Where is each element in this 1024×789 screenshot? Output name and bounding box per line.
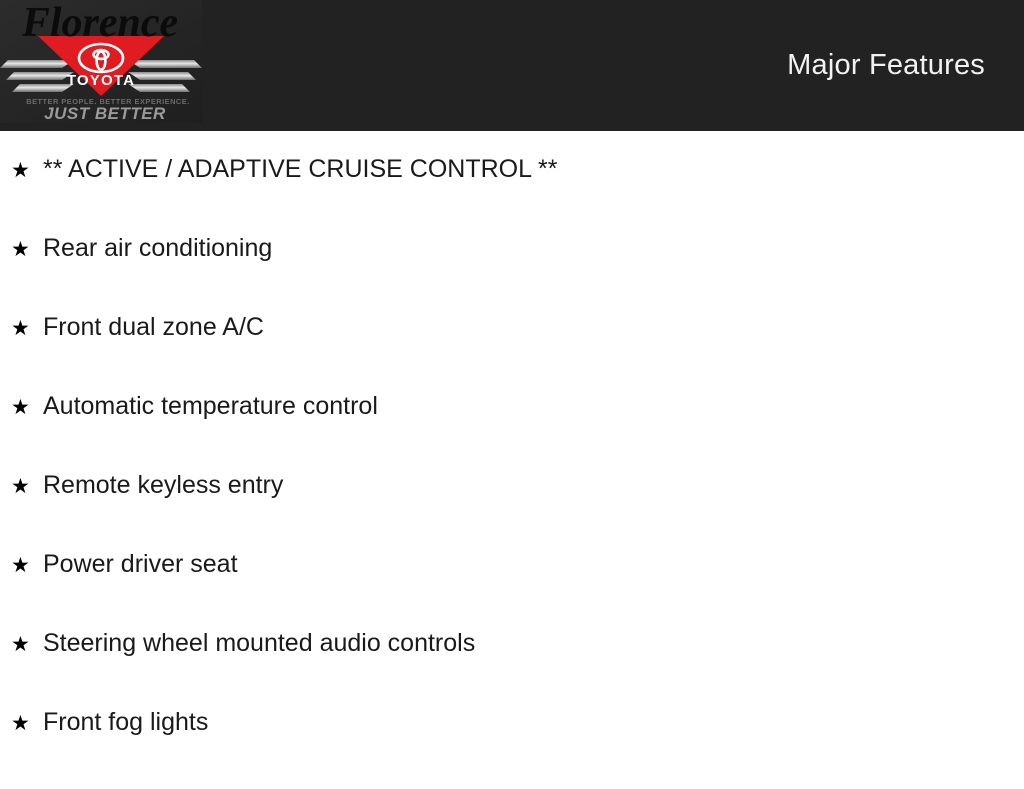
list-item: ★ ** ACTIVE / ADAPTIVE CRUISE CONTROL ** (0, 131, 1024, 236)
star-icon: ★ (11, 318, 43, 339)
star-icon: ★ (11, 713, 43, 734)
feature-label: Front dual zone A/C (43, 315, 264, 340)
list-item: ★ Steering wheel mounted audio controls (0, 631, 1024, 710)
feature-label: Power driver seat (43, 552, 238, 577)
star-icon: ★ (11, 634, 43, 655)
list-item: ★ Rear air conditioning (0, 236, 1024, 315)
star-icon: ★ (11, 555, 43, 576)
feature-label: Front fog lights (43, 710, 208, 735)
logo-brand-text: TOYOTA (67, 72, 135, 89)
list-item: ★ Remote keyless entry (0, 473, 1024, 552)
star-icon: ★ (11, 476, 43, 497)
list-item: ★ Automatic temperature control (0, 394, 1024, 473)
logo-dealer-name: Florence (21, 0, 178, 46)
star-icon: ★ (11, 160, 43, 181)
dealer-logo-graphic: TOYOTA Florence BETTER PEOPLE. BETTER EX… (0, 0, 202, 123)
page-header: TOYOTA Florence BETTER PEOPLE. BETTER EX… (0, 0, 1024, 131)
list-item: ★ Front dual zone A/C (0, 315, 1024, 394)
star-icon: ★ (11, 239, 43, 260)
list-item: ★ Front fog lights (0, 710, 1024, 789)
major-features-list: ★ ** ACTIVE / ADAPTIVE CRUISE CONTROL **… (0, 131, 1024, 789)
list-item: ★ Power driver seat (0, 552, 1024, 631)
star-icon: ★ (11, 397, 43, 418)
page-title: Major Features (787, 0, 985, 131)
dealer-logo[interactable]: TOYOTA Florence BETTER PEOPLE. BETTER EX… (0, 0, 202, 123)
feature-label: Remote keyless entry (43, 473, 283, 498)
feature-label: ** ACTIVE / ADAPTIVE CRUISE CONTROL ** (43, 157, 557, 182)
logo-tagline-secondary: JUST BETTER (44, 104, 166, 123)
feature-label: Automatic temperature control (43, 394, 378, 419)
feature-label: Rear air conditioning (43, 236, 272, 261)
feature-label: Steering wheel mounted audio controls (43, 631, 475, 656)
